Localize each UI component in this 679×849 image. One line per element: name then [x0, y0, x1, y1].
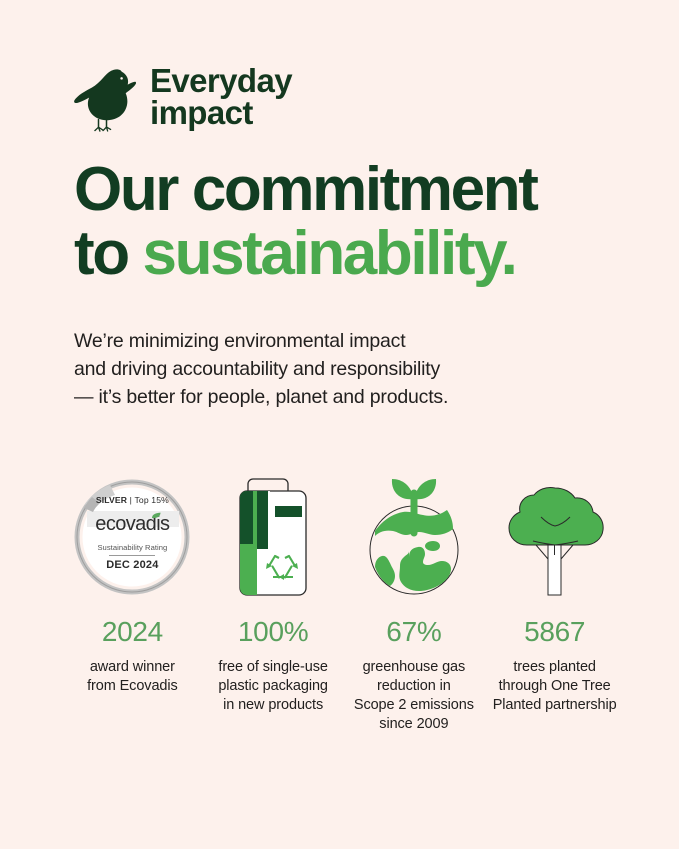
stat-value: 100%	[238, 618, 308, 646]
headline-line-2-prefix: to	[74, 219, 143, 288]
stat-item: 67% greenhouse gas reduction in Scope 2 …	[344, 462, 485, 735]
brand-lockup: Everyday impact	[74, 0, 605, 132]
headline-line-1: Our commitment	[74, 155, 536, 224]
ecovadis-badge-icon: SILVER | Top 15% ecovadis Sustainability…	[73, 478, 191, 596]
badge-ribbon-rank: Top 15%	[134, 495, 169, 505]
recyclable-packaging-icon	[227, 473, 319, 601]
badge-content: SILVER | Top 15% ecovadis Sustainability…	[73, 478, 191, 596]
sustainability-infographic: Everyday impact Our commitment to sustai…	[0, 0, 679, 849]
stat-item: 5867 trees planted through One Tree Plan…	[484, 462, 625, 715]
stat-artwork	[227, 462, 319, 612]
headline-accent: sustainability.	[143, 219, 516, 288]
badge-subtitle: Sustainability Rating	[97, 543, 167, 552]
stat-caption: greenhouse gas reduction in Scope 2 emis…	[354, 658, 474, 735]
globe-sprout-icon	[361, 469, 467, 605]
stat-artwork	[503, 462, 607, 612]
leaf-icon	[151, 512, 162, 519]
stat-value: 67%	[386, 618, 441, 646]
badge-date: DEC 2024	[106, 559, 158, 571]
page-title: Our commitment to sustainability.	[74, 158, 605, 286]
badge-ribbon: SILVER | Top 15%	[96, 495, 169, 505]
stat-value: 2024	[102, 618, 163, 646]
stat-item: SILVER | Top 15% ecovadis Sustainability…	[62, 462, 203, 696]
brand-name: Everyday impact	[150, 65, 292, 128]
stat-caption: free of single-use plastic packaging in …	[218, 658, 328, 715]
tree-icon	[503, 471, 607, 603]
badge-ribbon-level: SILVER	[96, 495, 127, 505]
stats-row: SILVER | Top 15% ecovadis Sustainability…	[62, 462, 625, 735]
bird-icon	[74, 62, 136, 132]
badge-divider	[109, 555, 155, 556]
ecovadis-wordmark: ecovadis	[95, 513, 169, 536]
stat-artwork: SILVER | Top 15% ecovadis Sustainability…	[73, 462, 191, 612]
stat-value: 5867	[524, 618, 585, 646]
stat-item: 100% free of single-use plastic packagin…	[203, 462, 344, 715]
stat-caption: award winner from Ecovadis	[87, 658, 178, 696]
stat-artwork	[361, 462, 467, 612]
stat-caption: trees planted through One Tree Planted p…	[493, 658, 617, 715]
intro-paragraph: We’re minimizing environmental impact an…	[74, 327, 605, 411]
